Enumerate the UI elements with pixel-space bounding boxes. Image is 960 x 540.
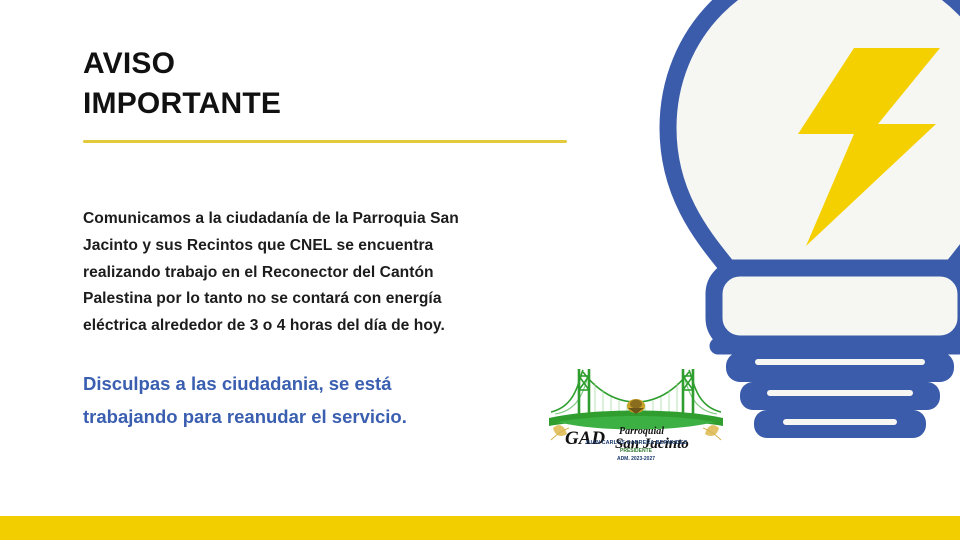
gad-parish-logo: GAD Parroquial San Jacinto JUAN CARLOS C… [543,356,729,474]
apology-text: Disculpas a las ciudadania, se está trab… [83,368,455,434]
notice-body-text: Comunicamos a la ciudadanía de la Parroq… [83,206,487,340]
title-divider [83,140,567,143]
notice-slide: AVISO IMPORTANTE Comunicamos a la ciudad… [0,0,960,540]
page-title: AVISO IMPORTANTE [83,44,583,124]
lightning-bolt-icon [798,48,940,246]
logo-president-name: JUAN CARLOS CABRERA BERMUDEZ [543,441,729,447]
title-line-1: AVISO [83,44,583,84]
bottom-accent-bar [0,516,960,540]
logo-president-role: PRESIDENTE [543,449,729,454]
logo-term: ADM. 2023-2027 [543,457,729,462]
title-line-2: IMPORTANTE [83,84,583,124]
